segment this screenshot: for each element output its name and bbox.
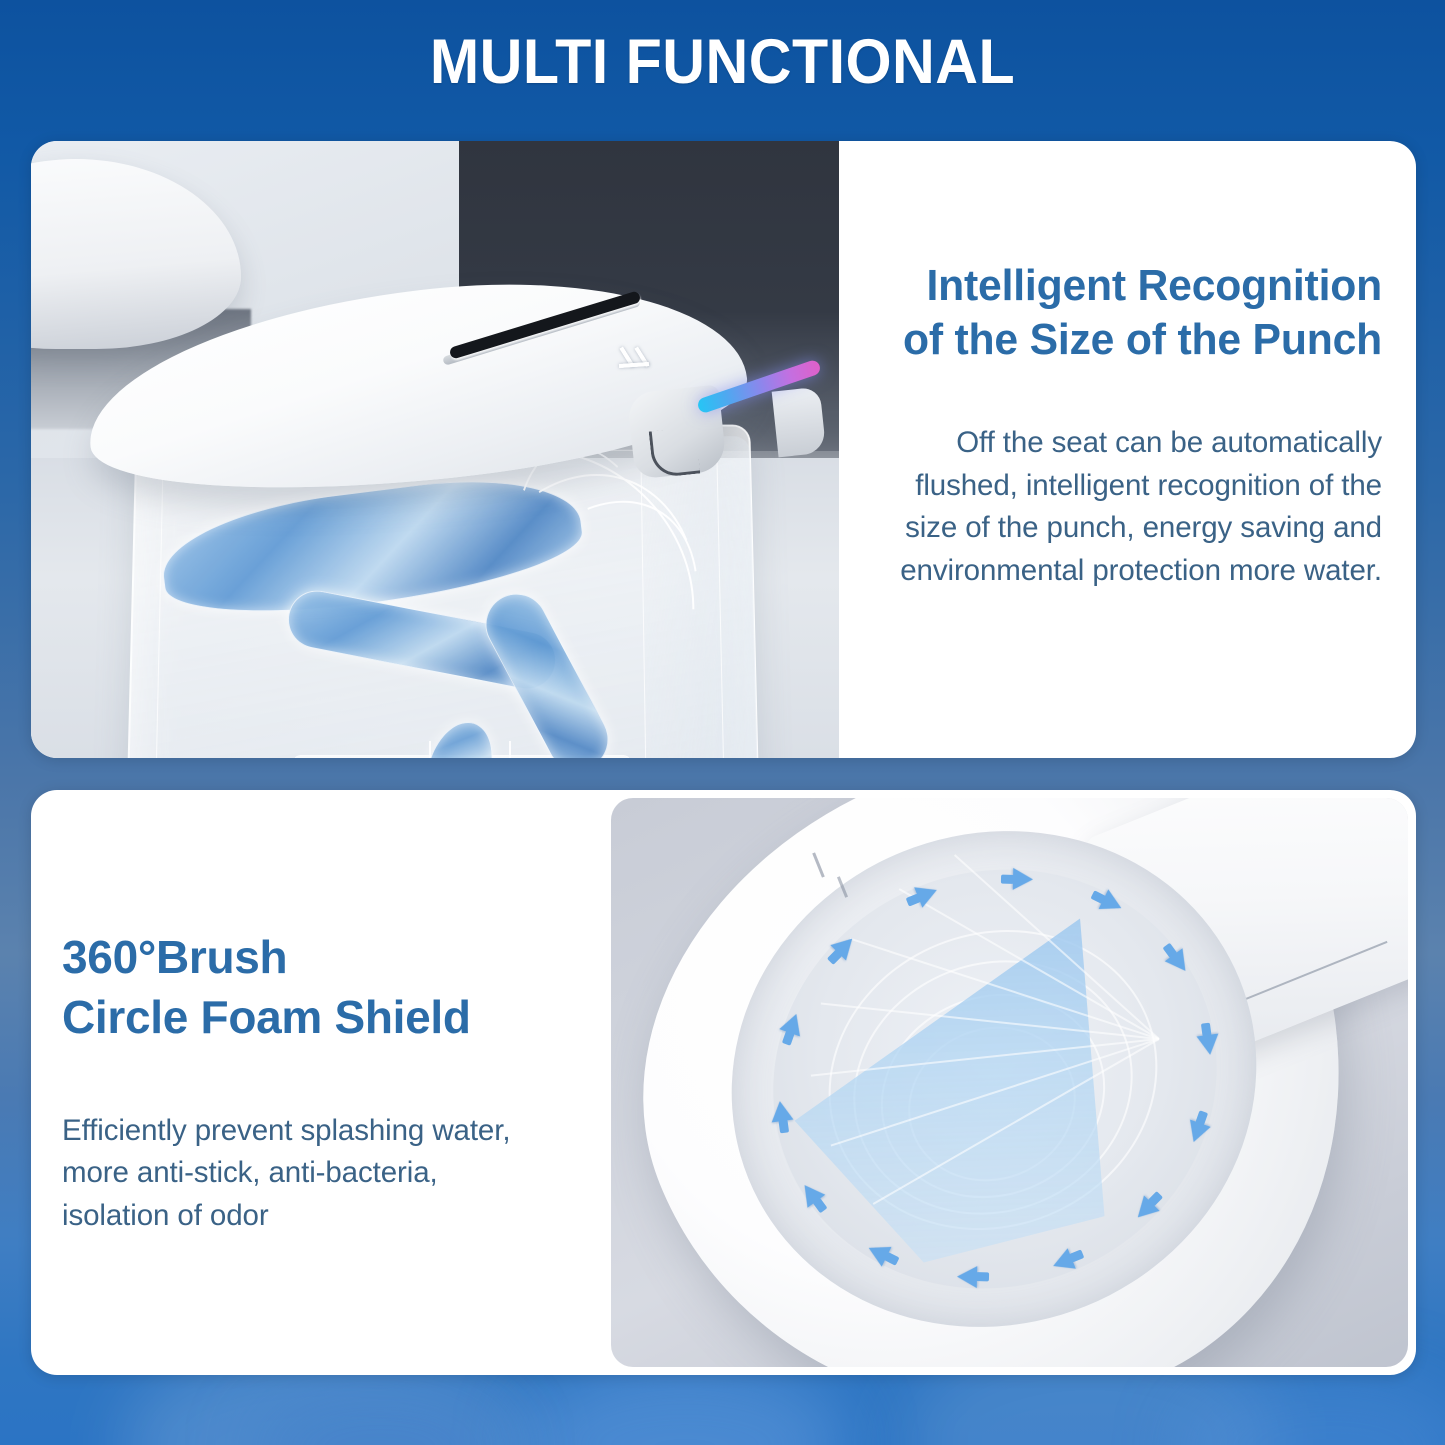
feature-heading-line-1: Intelligent Recognition: [884, 259, 1382, 313]
circulation-arrow-icon: [957, 1266, 990, 1289]
circulation-arrow-icon: [769, 1100, 795, 1135]
arrow-head-icon: [1012, 868, 1033, 890]
product-image-cutaway-toilet: [31, 141, 839, 758]
arrow-tail-icon: [782, 1030, 795, 1045]
feature-body-line-1: Efficiently prevent splashing water,: [62, 1110, 591, 1152]
background-blob: [250, 1390, 510, 1445]
arrow-tail-icon: [976, 1273, 989, 1282]
led-end-cap: [772, 387, 827, 458]
arrow-tail-icon: [1000, 874, 1013, 883]
arrow-tail-icon: [1202, 1022, 1213, 1036]
infographic-poster: MULTI FUNCTIONAL: [0, 0, 1445, 1445]
arrow-tail-icon: [905, 893, 920, 906]
feature-card-circle-foam-shield: 360°Brush Circle Foam Shield Efficiently…: [31, 790, 1416, 1375]
arrow-head-icon: [957, 1266, 978, 1288]
product-image-bowl-top-view: [611, 798, 1408, 1367]
feature-heading-line-2: of the Size of the Punch: [884, 313, 1382, 367]
background-blob: [1180, 1370, 1445, 1445]
arrow-head-icon: [1197, 1033, 1221, 1056]
feature-heading: Intelligent Recognition of the Size of t…: [884, 259, 1382, 366]
feature-text-intelligent-recognition: Intelligent Recognition of the Size of t…: [839, 141, 1416, 758]
feature-heading: 360°Brush Circle Foam Shield: [62, 928, 591, 1048]
feature-heading-line-1: 360°Brush: [62, 928, 591, 988]
feature-card-intelligent-recognition: Intelligent Recognition of the Size of t…: [31, 141, 1416, 758]
poster-title: MULTI FUNCTIONAL: [43, 26, 1401, 98]
feature-body-text: Off the seat can be automatically flushe…: [869, 422, 1382, 592]
feature-body-line-2: more anti-stick, anti-bacteria,: [62, 1152, 591, 1194]
secondary-unit: [31, 159, 241, 349]
feature-text-circle-foam-shield: 360°Brush Circle Foam Shield Efficiently…: [31, 790, 611, 1375]
feature-heading-line-2: Circle Foam Shield: [62, 988, 591, 1048]
feature-body-line-3: isolation of odor: [62, 1195, 591, 1237]
feature-body-text: Efficiently prevent splashing water, mor…: [62, 1110, 591, 1237]
circulation-arrow-icon: [1000, 867, 1033, 890]
circulation-arrow-icon: [1195, 1021, 1221, 1056]
arrow-tail-icon: [778, 1120, 789, 1134]
